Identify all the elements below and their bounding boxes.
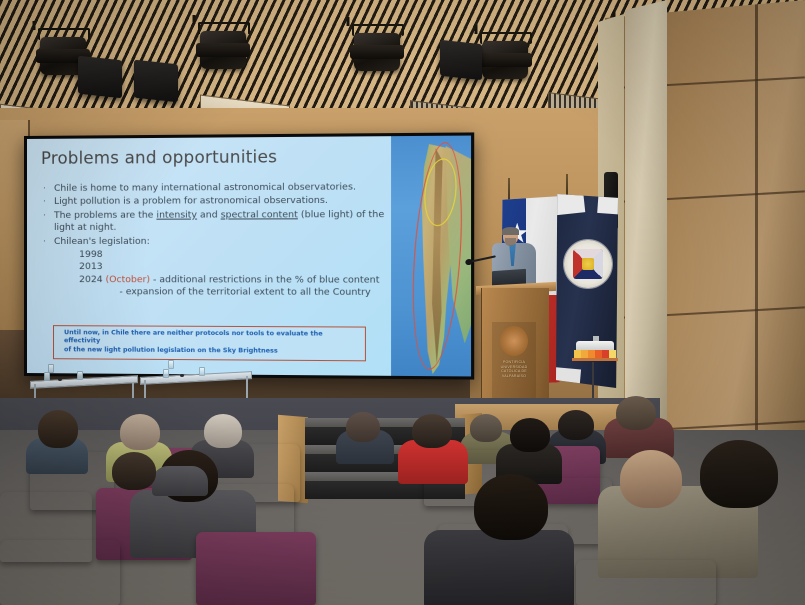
water-glass	[199, 367, 205, 376]
stage-light-body	[482, 41, 528, 79]
swatch	[602, 350, 609, 358]
stage-light-body	[200, 31, 246, 69]
slide-title: Problems and opportunities	[41, 147, 277, 168]
audience-head	[412, 414, 452, 448]
audience-member	[152, 466, 208, 496]
seat	[576, 560, 716, 605]
swatch	[609, 350, 616, 358]
bullet-marker: ·	[43, 183, 54, 195]
list-item: · The problems are the intensity and spe…	[43, 209, 402, 235]
stage-light-body	[354, 33, 400, 71]
bullet-marker: ·	[43, 236, 54, 248]
legislation-year: 2024	[79, 274, 103, 285]
bullet-text: Chile is home to many international astr…	[54, 181, 402, 195]
stage-light-stem	[347, 17, 350, 26]
list-item: · Light pollution is a problem for astro…	[43, 195, 402, 209]
bullet-marker: ·	[43, 210, 54, 235]
demo-device-base	[572, 358, 618, 361]
swatch	[581, 350, 588, 358]
bullet-text: Light pollution is a problem for astrono…	[54, 195, 402, 209]
swatch	[588, 350, 595, 358]
presentation-slide: Problems and opportunities · Chile is ho…	[27, 136, 471, 377]
stage-light-stem	[193, 15, 196, 24]
audience-head	[38, 410, 78, 448]
panel-seam-vertical	[755, 0, 758, 480]
swatch	[595, 350, 602, 358]
projection-screen: Problems and opportunities · Chile is ho…	[24, 132, 474, 379]
conference-hall-photo: Problems and opportunities · Chile is ho…	[0, 0, 805, 605]
audience-head	[700, 440, 778, 508]
audience-head	[620, 450, 682, 508]
water-glass	[163, 369, 169, 378]
audience-head	[112, 452, 156, 490]
audience-head	[470, 414, 502, 442]
audience-head	[120, 414, 160, 450]
podium-inscription: PONTIFICIA UNIVERSIDAD CATÓLICA DE VALPA…	[492, 360, 536, 378]
audience-head	[616, 396, 656, 430]
water-glass	[77, 371, 83, 380]
audience-head	[510, 418, 550, 452]
legislation-entry: 2024 (October) - additional restrictions…	[79, 274, 401, 287]
audience-head	[558, 410, 594, 440]
legislation-month-highlight: (October)	[103, 274, 150, 285]
audience-head	[204, 414, 242, 448]
swatch	[574, 350, 581, 358]
flag-pucv-white-quadrant	[556, 192, 585, 216]
stage-light-stem	[475, 25, 478, 34]
audience-head	[474, 474, 548, 540]
university-seal	[564, 240, 612, 288]
bullet-text: Chilean's legislation:	[54, 235, 402, 248]
bullet-text: The problems are the intensity and spect…	[54, 209, 402, 235]
ceiling-speaker	[440, 40, 482, 80]
demo-device-roof	[576, 341, 614, 350]
legislation-year: 2013	[79, 261, 401, 274]
bullet-text-underlined: spectral content	[221, 209, 298, 220]
slide-bullet-list: · Chile is home to many international as…	[43, 181, 402, 300]
bullet-text-part: The problems are the	[54, 209, 156, 220]
bottle-cap	[58, 378, 62, 381]
legislation-year: 1998	[79, 249, 401, 262]
audience-head	[346, 412, 380, 442]
water-glass	[168, 360, 174, 369]
seal-center-emblem	[582, 258, 594, 270]
slide-callout-box: Until now, in Chile there are neither pr…	[53, 325, 366, 361]
stone-column	[625, 0, 667, 430]
presenter-beard	[505, 238, 516, 246]
light-spectrum-demo-model	[574, 338, 616, 362]
podium-inscription-line: VALPARAÍSO	[492, 374, 536, 379]
list-item: · Chilean's legislation:	[43, 235, 402, 248]
ceiling-speaker	[78, 56, 122, 99]
bullet-text-part: and	[197, 209, 221, 220]
bullet-text-underlined: intensity	[156, 209, 197, 220]
ceiling-speaker	[134, 60, 178, 103]
podium-seal-icon	[500, 326, 528, 356]
legislation-continuation: - expansion of the territorial extent to…	[119, 286, 401, 299]
map-of-chile	[391, 136, 471, 377]
list-item: · Chile is home to many international as…	[43, 181, 402, 195]
demo-device-stand	[592, 362, 594, 398]
legislation-note: - additional restrictions in the % of bl…	[150, 274, 379, 286]
water-glass	[44, 372, 50, 381]
presenter-hair	[502, 227, 519, 235]
callout-line-2: of the new light pollution legislation o…	[64, 346, 360, 356]
bullet-marker: ·	[43, 196, 54, 208]
seat	[196, 532, 316, 605]
seat	[0, 540, 120, 605]
bottle-cap	[180, 374, 184, 377]
callout-line-1: Until now, in Chile there are neither pr…	[64, 329, 360, 348]
podium-crest-plaque: PONTIFICIA UNIVERSIDAD CATÓLICA DE VALPA…	[492, 322, 536, 398]
audience-member	[424, 530, 574, 605]
demo-device-color-swatches	[574, 350, 616, 358]
stage-light-stem	[33, 21, 36, 30]
